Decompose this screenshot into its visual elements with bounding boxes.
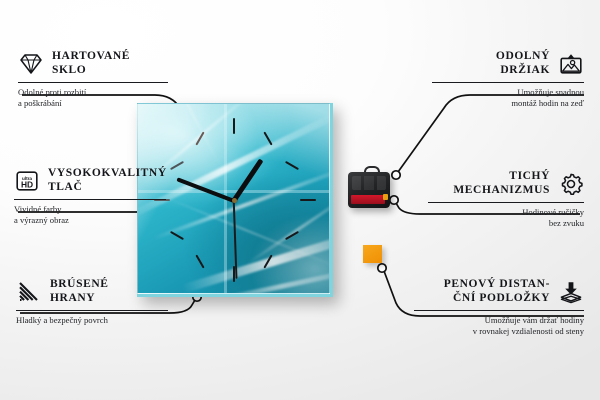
feature-title-line: PENOVÝ DISTAN- (444, 278, 550, 292)
polished-edges-icon (16, 280, 42, 304)
feature-polished-edges[interactable]: BRÚSENÉ HRANY Hladký a bezpečný povrch (16, 278, 168, 326)
feature-description-line: Vividné farby (14, 204, 166, 215)
diamond-icon (18, 52, 44, 76)
feature-title-line: HARTOVANÉ (52, 50, 130, 64)
feature-description-line: Umožňuje vám držať hodiny (414, 315, 584, 326)
feature-description-line: a poškrábání (18, 98, 168, 109)
feature-divider (18, 82, 168, 83)
gear-icon (558, 172, 584, 196)
feature-description-line: bez zvuku (428, 218, 584, 229)
feature-foam-spacers[interactable]: PENOVÝ DISTAN- ČNÍ PODLOŽKY Umožňuje vám… (414, 278, 584, 336)
feature-description-line: Hodinové ručičky (428, 207, 584, 218)
svg-text:HD: HD (21, 179, 33, 189)
feature-divider (432, 82, 584, 83)
clock-battery-terminal (383, 194, 388, 200)
feature-divider (14, 199, 166, 200)
clock-tick-8 (170, 231, 184, 240)
feature-description: Hladký a bezpečný povrch (16, 315, 168, 326)
feature-high-quality-print[interactable]: ultra HD VYSOKOKVALITNÝ TLAČ Vividné far… (14, 167, 166, 225)
clock-mechanism-detail (352, 176, 386, 190)
feature-description-line: Umožňuje snadnou (432, 87, 584, 98)
feature-title-line: MECHANIZMUS (453, 184, 550, 198)
clock-battery (351, 195, 385, 204)
feature-description: Hodinové ručičky bez zvuku (428, 207, 584, 228)
foam-spacer-icon (558, 280, 584, 304)
clock-hands-cap (232, 198, 237, 203)
glass-reflection (227, 193, 330, 294)
feature-title-line: ODOLNÝ (496, 50, 550, 64)
feature-title-line: SKLO (52, 64, 130, 78)
feature-divider (16, 310, 168, 311)
feature-divider (414, 310, 584, 311)
clock-tick-7 (195, 255, 204, 269)
glass-reflection-line (138, 190, 330, 193)
feature-description-line: montáž hodin na zeď (432, 98, 584, 109)
feature-description-line: Odolné proti rozbití (18, 87, 168, 98)
feature-title-line: HRANY (50, 292, 109, 306)
feature-description-line: Hladký a bezpečný povrch (16, 315, 168, 326)
ultra-hd-icon: ultra HD (14, 169, 40, 193)
feature-description-line: a výrazný obraz (14, 215, 166, 226)
wall-hanger-icon (558, 52, 584, 76)
feature-durable-hanger[interactable]: ODOLNÝ DRŽIAK Umožňuje snadnou montáž ho… (432, 50, 584, 108)
feature-description: Odolné proti rozbití a poškrábání (18, 87, 168, 108)
feature-description: Umožňuje vám držať hodiny v rovnakej vzd… (414, 315, 584, 336)
feature-silent-mechanism[interactable]: TICHÝ MECHANIZMUS Hodinové ručičky bez z… (428, 170, 584, 228)
clock-tick-3 (300, 199, 316, 201)
feature-title-line: TICHÝ (453, 170, 550, 184)
feature-title-line: VYSOKOKVALITNÝ (48, 167, 167, 181)
feature-title-line: ČNÍ PODLOŽKY (444, 292, 550, 306)
infographic-canvas: HARTOVANÉ SKLO Odolné proti rozbití a po… (0, 0, 600, 400)
feature-divider (428, 202, 584, 203)
feature-title-line: DRŽIAK (496, 64, 550, 78)
feature-description: Umožňuje snadnou montáž hodin na zeď (432, 87, 584, 108)
foam-spacer-pad (363, 245, 382, 263)
feature-tempered-glass[interactable]: HARTOVANÉ SKLO Odolné proti rozbití a po… (18, 50, 168, 108)
feature-description: Vividné farby a výrazný obraz (14, 204, 166, 225)
clock-tick-12 (233, 118, 235, 134)
clock-tick-2 (285, 161, 299, 170)
feature-description-line: v rovnakej vzdialenosti od steny (414, 326, 584, 337)
feature-title-line: BRÚSENÉ (50, 278, 109, 292)
feature-title-line: TLAČ (48, 181, 167, 195)
